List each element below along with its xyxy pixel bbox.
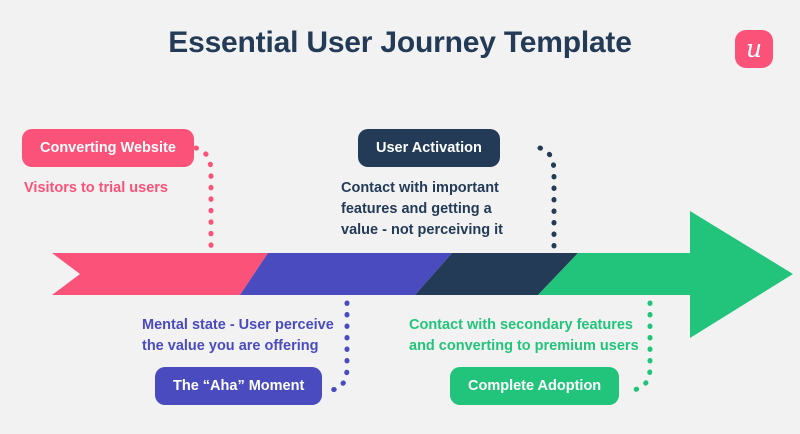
arrow-segment-activation: [415, 253, 578, 295]
description-aha-moment: Mental state - User perceive the value y…: [142, 315, 334, 357]
userpilot-logo: u: [735, 30, 773, 68]
logo-letter-u: u: [746, 36, 762, 61]
description-converting-website: Visitors to trial users: [24, 178, 168, 199]
connector-aha: [332, 303, 347, 390]
connector-activation: [540, 148, 554, 247]
arrow-segment-aha: [240, 253, 452, 295]
badge-complete-adoption[interactable]: Complete Adoption: [450, 367, 619, 405]
connector-converting: [196, 148, 211, 247]
description-complete-adoption: Contact with secondary features and conv…: [409, 315, 639, 357]
badge-converting-website[interactable]: Converting Website: [22, 129, 194, 167]
badge-user-activation[interactable]: User Activation: [358, 129, 500, 167]
description-user-activation: Contact with important features and gett…: [341, 178, 503, 241]
badge-aha-moment[interactable]: The “Aha” Moment: [155, 367, 322, 405]
journey-template-canvas: Essential User Journey Template u Conver…: [0, 0, 800, 434]
arrow-segment-converting: [52, 253, 268, 295]
page-title: Essential User Journey Template: [0, 26, 800, 60]
